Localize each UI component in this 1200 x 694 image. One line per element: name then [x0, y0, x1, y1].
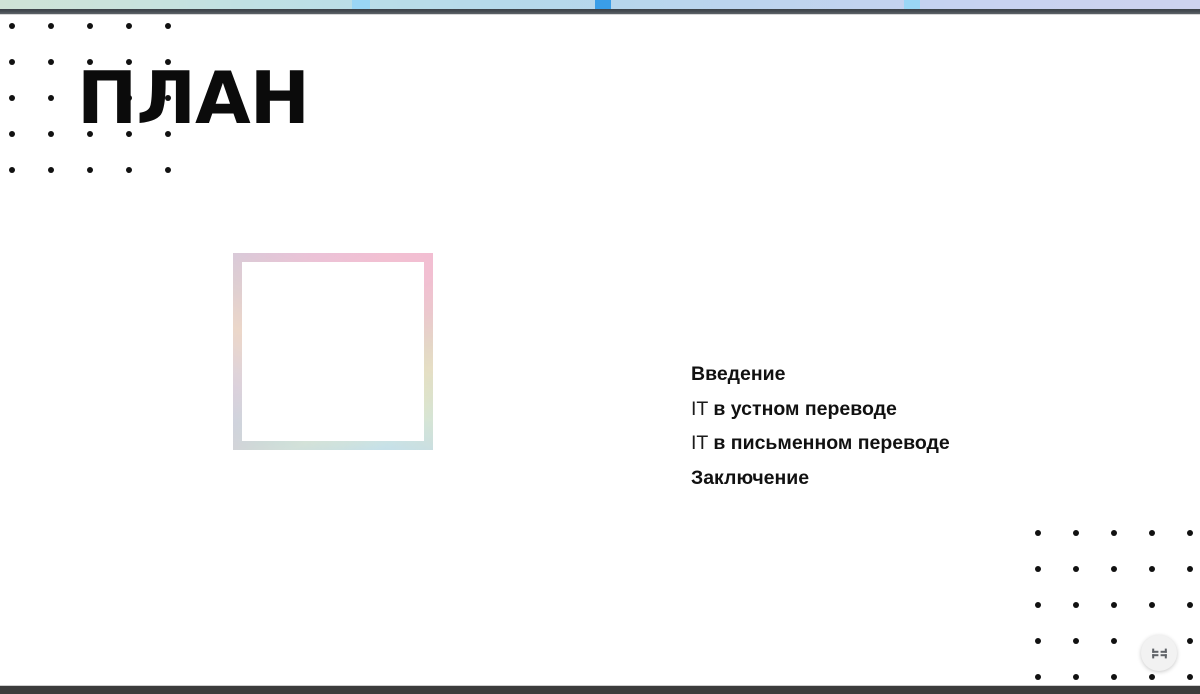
decorative-dot — [48, 59, 54, 65]
decorative-dot — [1111, 566, 1117, 572]
decorative-dot — [9, 59, 15, 65]
decorative-dot — [1073, 674, 1079, 680]
decorative-dot — [48, 95, 54, 101]
decorative-dot — [1111, 602, 1117, 608]
decorative-dot — [1035, 602, 1041, 608]
agenda-item-prefix: IT — [691, 398, 713, 420]
decorative-dot — [1111, 530, 1117, 536]
decorative-dot — [126, 167, 132, 173]
decorative-dot — [9, 23, 15, 29]
decorative-dot — [1035, 674, 1041, 680]
gradient-outline-square-overlay — [233, 253, 433, 450]
decorative-dot — [1073, 638, 1079, 644]
tab-segment-highlight-right[interactable] — [904, 0, 920, 9]
tab-segment-highlight[interactable] — [352, 0, 370, 9]
decorative-dot — [1149, 566, 1155, 572]
agenda-item-label: в письменном переводе — [713, 432, 949, 454]
decorative-dot — [126, 23, 132, 29]
agenda-item-label: Введение — [691, 363, 786, 385]
page-title: ПЛАН — [77, 62, 309, 134]
agenda-item-2: IT в устном переводе — [691, 392, 950, 427]
tab-segment-active[interactable] — [595, 0, 611, 9]
decorative-dot — [1035, 530, 1041, 536]
title-block — [233, 253, 433, 450]
agenda-item-label: Заключение — [691, 467, 809, 489]
decorative-dot — [165, 23, 171, 29]
decorative-dot — [9, 95, 15, 101]
decorative-dot — [48, 23, 54, 29]
agenda-item-label: в устном переводе — [713, 398, 896, 420]
decorative-dot — [87, 167, 93, 173]
decorative-dot — [1073, 602, 1079, 608]
chrome-divider — [0, 14, 1200, 15]
decorative-dot — [9, 131, 15, 137]
decorative-dot — [165, 167, 171, 173]
agenda-item-3: IT в письменном переводе — [691, 426, 950, 461]
exit-fullscreen-icon — [1151, 645, 1168, 662]
decorative-dot — [1111, 638, 1117, 644]
agenda-list: ВведениеIT в устном переводеIT в письмен… — [691, 357, 950, 495]
slide-viewer: ПЛАН ВведениеIT в устном переводеIT в пи… — [0, 0, 1200, 694]
decorative-dot — [87, 23, 93, 29]
decorative-dot — [48, 167, 54, 173]
agenda-item-1: Введение — [691, 357, 950, 392]
exit-fullscreen-button[interactable] — [1141, 635, 1177, 671]
agenda-item-prefix: IT — [691, 432, 713, 454]
decorative-dot — [1187, 602, 1193, 608]
decorative-dot — [1187, 530, 1193, 536]
decorative-dot — [1149, 602, 1155, 608]
agenda-item-4: Заключение — [691, 461, 950, 496]
decorative-dot — [1111, 674, 1117, 680]
decorative-dot — [1149, 530, 1155, 536]
decorative-dot — [1035, 638, 1041, 644]
decorative-dot — [1149, 674, 1155, 680]
decorative-dot — [1035, 566, 1041, 572]
decorative-dot — [1073, 566, 1079, 572]
decorative-dot — [48, 131, 54, 137]
decorative-dot — [1187, 638, 1193, 644]
decorative-dot — [1073, 530, 1079, 536]
browser-bottom-chrome — [0, 686, 1200, 694]
decorative-dot — [1187, 566, 1193, 572]
decorative-dot — [9, 167, 15, 173]
decorative-dot — [1187, 674, 1193, 680]
